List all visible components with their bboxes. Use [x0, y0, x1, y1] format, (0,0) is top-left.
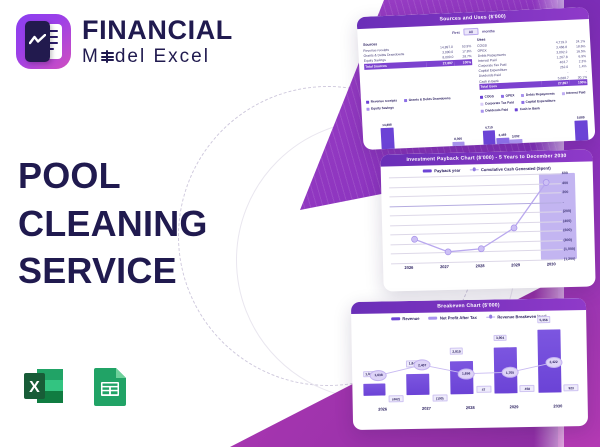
breakeven-x-axis: 20262027202820292030 [361, 403, 580, 412]
uses-table: COGS4,719.324.1%OPEX3,468.818.6%Debts Re… [477, 39, 587, 91]
legend-swatch [521, 94, 524, 97]
x-axis-tick-label: 2027 [427, 264, 463, 270]
legend-swatch [404, 99, 407, 102]
legend-item-cumulative-cash: Cumulative Cash Generated (Spent) [469, 165, 550, 172]
data-point-marker [511, 225, 517, 231]
table-cell: 27,897 [426, 60, 454, 67]
brand-title: FINANCIAL [82, 17, 233, 44]
data-point-marker [411, 236, 417, 242]
zigzag-line-icon [29, 34, 46, 46]
google-sheets-icon [86, 362, 134, 410]
bar-value-label: 3,469 [498, 133, 506, 137]
x-axis-tick-label: 2027 [405, 405, 449, 411]
legend-item: Cash in Bank [515, 107, 540, 112]
sources-uses-tables: Sources Revenue receipts14,897.053.9%Gra… [363, 33, 588, 95]
barred-o-glyph-icon [101, 50, 114, 63]
y-axis-tick-label: (1,200) [564, 257, 589, 262]
bar: 14,898 [381, 128, 396, 150]
data-point-marker [543, 179, 549, 185]
legend-label: Revenue receipts [371, 99, 398, 104]
legend-swatch [480, 103, 483, 106]
investment-payback-panel[interactable]: Investment Payback Chart ($'000) - 5 Yea… [380, 149, 595, 291]
legend-label: Corporate Tax Paid [485, 101, 514, 106]
period-first-label: First [452, 30, 460, 34]
brand-subtitle: M del Excel [82, 47, 233, 66]
legend-label: Net Profit After Tax [440, 315, 477, 321]
sources-column: Sources Revenue receipts14,897.053.9%Gra… [363, 38, 474, 95]
table-cell: 100% [569, 79, 588, 86]
microsoft-excel-icon: X [20, 362, 68, 410]
bar-value-label: 8,000 [454, 137, 462, 141]
uses-column: Uses COGS4,719.324.1%OPEX3,468.818.6%Deb… [477, 33, 588, 90]
legend-label: Debts Repayments [526, 92, 555, 97]
legend-label: Interest Paid [566, 91, 585, 96]
cumulative-cash-polyline [413, 182, 548, 252]
legend-item: OPEX [501, 94, 515, 99]
legend-label: Equity Savings [371, 106, 394, 111]
x-axis-tick-label: 2026 [361, 406, 405, 412]
sources-and-uses-panel[interactable]: Sources and Uses ($'000) First All month… [357, 7, 596, 150]
legend-swatch [366, 107, 369, 110]
chart-card-icon [25, 21, 50, 62]
period-unit-label: months [482, 29, 495, 34]
supported-apps: X [20, 362, 134, 410]
revenue-swatch [391, 317, 400, 320]
period-selected-value[interactable]: All [464, 28, 479, 36]
legend-item-net-profit-after-tax: Net Profit After Tax [428, 315, 476, 321]
bar-value-label: 5,689 [577, 115, 585, 119]
headline-line-3: SERVICE [18, 247, 208, 295]
legend-item: Dividends Paid [481, 108, 509, 113]
legend-swatch [366, 100, 369, 103]
bar-value-label: 3,092 [512, 135, 520, 139]
payback-plot-area: 600400200-(200)(400)(600)(800)(1,000)(1,… [389, 173, 589, 264]
x-axis-tick-label: 2030 [533, 261, 569, 267]
data-point-marker [478, 246, 484, 252]
brand-subtitle-pre: M [82, 47, 100, 66]
legend-label: Grants & Debts Drawdowns [409, 96, 451, 102]
legend-label: OPEX [505, 94, 514, 98]
breakeven-panel[interactable]: Breakeven Chart ($'000) Revenue Net Prof… [351, 298, 588, 430]
legend-item-payback-year: Payback year [423, 168, 461, 174]
legend-item: Equity Savings [366, 106, 394, 111]
headline-line-1: POOL [18, 152, 208, 200]
legend-item: Interest Paid [562, 91, 586, 96]
legend-item: Capital Expenditure [521, 99, 556, 105]
svg-text:X: X [29, 379, 40, 396]
legend-swatch [521, 101, 524, 104]
x-axis-tick-label: 2030 [536, 403, 580, 409]
brand-subtitle-post: del Excel [115, 47, 210, 66]
legend-label: Cash in Bank [520, 107, 540, 112]
data-point-marker [445, 249, 451, 255]
x-axis-tick-label: 2029 [498, 262, 534, 268]
legend-item: Corporate Tax Paid [480, 101, 514, 106]
revenue-breakeven-level-swatch [486, 316, 495, 318]
uses-legend: COGSOPEXDebts RepaymentsInterest PaidCor… [480, 90, 589, 113]
payback-year-swatch [423, 170, 432, 173]
legend-item: Debts Repayments [521, 92, 554, 97]
legend-item: Grants & Debts Drawdowns [404, 96, 451, 102]
poster-canvas: FINANCIAL M del Excel POOL CLEANING SERV… [0, 0, 600, 447]
legend-label: Cumulative Cash Generated (Spent) [481, 165, 551, 172]
bar-value-label: 4,719 [485, 125, 493, 129]
legend-item: Revenue receipts [366, 99, 397, 104]
legend-label: COGS [484, 95, 494, 99]
financial-model-excel-logo-icon [16, 14, 71, 69]
legend-label: Capital Expenditure [525, 99, 555, 104]
brand-text: FINANCIAL M del Excel [82, 17, 233, 66]
legend-item-revenue: Revenue [391, 316, 420, 321]
breakeven-plot-area: 1,040(462)1,848(190)2,819473,9044585,356… [359, 322, 579, 404]
legend-swatch [480, 96, 483, 99]
x-axis-tick-label: 2028 [448, 405, 492, 411]
legend-label: Dividends Paid [485, 108, 508, 113]
sources-bar-chart: 14,8983,0008,000 [369, 115, 477, 150]
bar-value-label: 14,898 [382, 123, 392, 127]
x-axis-tick-label: 2029 [492, 404, 536, 410]
table-cell: 27,897 [541, 80, 569, 87]
x-axis-tick-label: 2028 [462, 263, 498, 269]
headline-line-2: CLEANING [18, 200, 208, 248]
net-profit-after-tax-swatch [428, 317, 437, 320]
legend-label: Revenue [402, 316, 419, 321]
page-title: POOL CLEANING SERVICE [18, 152, 208, 295]
brand-lockup: FINANCIAL M del Excel [16, 14, 233, 69]
legend-label: Payback year [434, 168, 460, 174]
cumulative-cash-swatch [469, 169, 478, 171]
legend-swatch [481, 110, 484, 113]
sources-table: Revenue receipts14,897.053.9%Grants & De… [363, 44, 472, 70]
x-axis-tick-label: 2026 [391, 265, 427, 271]
legend-swatch [562, 92, 565, 95]
legend-swatch [501, 95, 504, 98]
table-cell: 100% [454, 59, 473, 66]
legend-swatch [515, 108, 518, 111]
sources-legend: Revenue receiptsGrants & Debts Drawdowns… [366, 95, 474, 111]
payback-cumulative-cash-line [389, 173, 589, 258]
legend-item: COGS [480, 95, 494, 100]
sources-and-uses-body: First All months Sources Revenue receipt… [357, 19, 595, 150]
